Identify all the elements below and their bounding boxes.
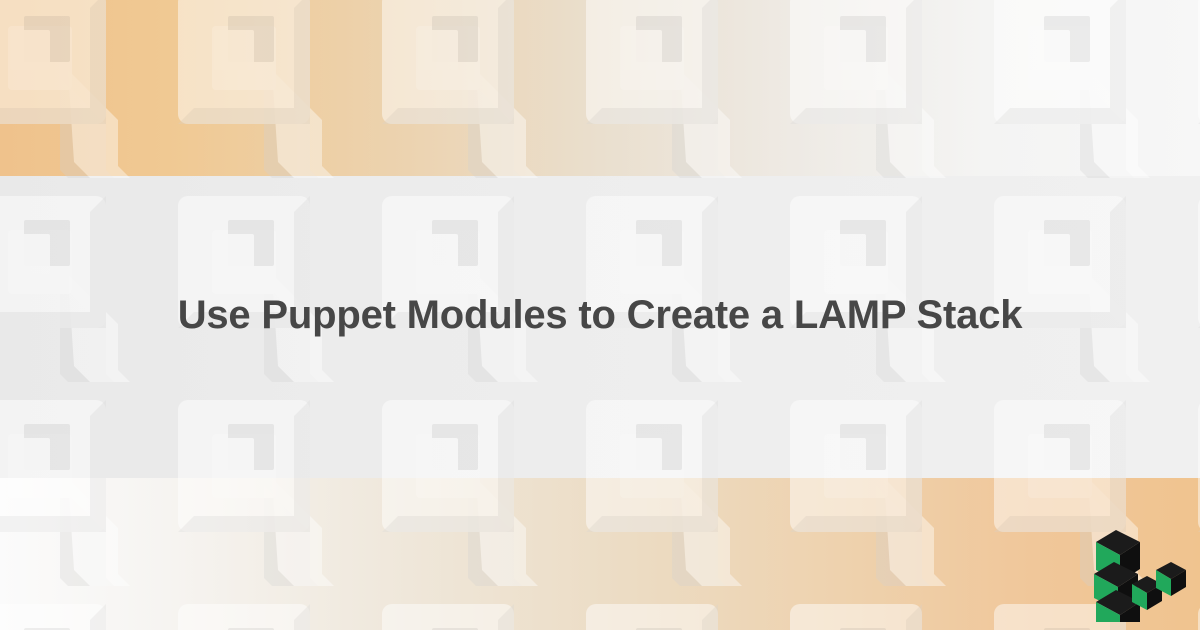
- puppet-logo: [1082, 512, 1192, 622]
- title-container: Use Puppet Modules to Create a LAMP Stac…: [0, 0, 1200, 630]
- page-title: Use Puppet Modules to Create a LAMP Stac…: [138, 291, 1063, 339]
- social-share-card: Use Puppet Modules to Create a LAMP Stac…: [0, 0, 1200, 630]
